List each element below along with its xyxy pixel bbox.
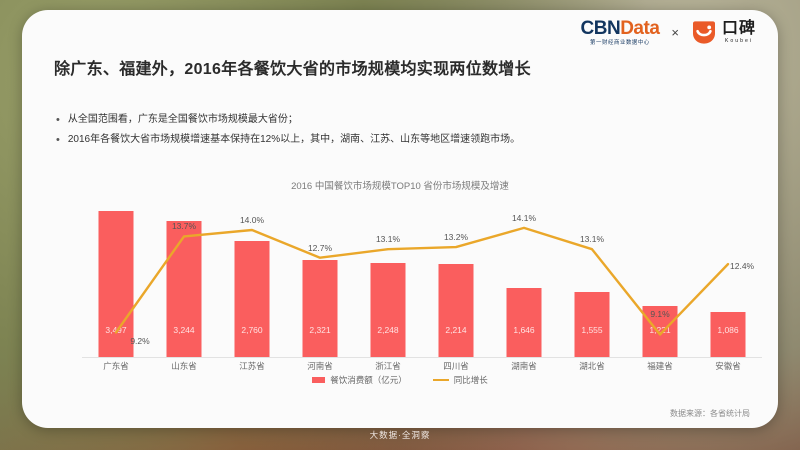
x-axis-label: 江苏省 bbox=[218, 360, 286, 372]
x-axis-label: 安徽省 bbox=[694, 360, 762, 372]
partnership-x-icon: × bbox=[669, 25, 681, 40]
growth-line-path bbox=[116, 228, 728, 335]
list-item: • 从全国范围看，广东是全国餐饮市场规模最大省份； bbox=[56, 114, 736, 127]
x-axis-label: 山东省 bbox=[150, 360, 218, 372]
chart-title: 2016 中国餐饮市场规模TOP10 省份市场规模及增速 bbox=[22, 178, 778, 192]
koubei-smile-icon bbox=[691, 21, 717, 44]
x-axis-label: 河南省 bbox=[286, 360, 354, 372]
growth-value-label: 13.2% bbox=[444, 232, 468, 242]
page-title: 除广东、福建外，2016年各餐饮大省的市场规模均实现两位数增长 bbox=[54, 55, 531, 79]
koubei-name-en: Koubei bbox=[725, 39, 753, 44]
bullet-text: 2016年各餐饮大省市场规模增速基本保持在12%以上，其中，湖南、江苏、山东等地… bbox=[68, 134, 520, 146]
growth-line-series: 9.2%13.7%14.0%12.7%13.1%13.2%14.1%13.1%9… bbox=[82, 198, 762, 358]
growth-value-label: 13.1% bbox=[580, 234, 604, 244]
growth-value-label: 12.7% bbox=[308, 243, 332, 253]
koubei-logo: 口碑 Koubei bbox=[691, 21, 756, 45]
growth-value-label: 13.1% bbox=[376, 234, 400, 244]
x-axis-label: 湖南省 bbox=[490, 360, 558, 372]
bullet-marker-icon: • bbox=[56, 134, 60, 147]
growth-value-label: 14.1% bbox=[512, 213, 536, 223]
legend-item-bar: 餐饮消费额（亿元） bbox=[312, 374, 407, 386]
slide-card: CBNData 第一财经商业数据中心 × 口碑 Koubei 除广东、福建外，2… bbox=[22, 10, 778, 428]
bullet-text: 从全国范围看，广东是全国餐饮市场规模最大省份； bbox=[68, 114, 298, 126]
cbndata-logo: CBNData 第一财经商业数据中心 bbox=[581, 19, 660, 46]
data-source-note: 数据来源：各省统计局 bbox=[670, 408, 750, 419]
x-axis-line bbox=[82, 357, 762, 358]
x-axis-label: 广东省 bbox=[82, 360, 150, 372]
koubei-wordmark: 口碑 Koubei bbox=[722, 21, 756, 45]
list-item: • 2016年各餐饮大省市场规模增速基本保持在12%以上，其中，湖南、江苏、山东… bbox=[56, 134, 736, 147]
cbndata-wordmark: CBNData bbox=[581, 19, 660, 38]
legend-label-line: 同比增长 bbox=[454, 374, 488, 386]
x-axis-label: 浙江省 bbox=[354, 360, 422, 372]
growth-value-label: 12.4% bbox=[730, 261, 754, 271]
bullet-list: • 从全国范围看，广东是全国餐饮市场规模最大省份； • 2016年各餐饮大省市场… bbox=[56, 114, 736, 153]
footer-slogan: 大数据·全洞察 bbox=[0, 429, 800, 441]
legend-item-line: 同比增长 bbox=[433, 374, 488, 386]
growth-value-label: 9.2% bbox=[130, 336, 149, 346]
x-axis-label: 福建省 bbox=[626, 360, 694, 372]
legend-swatch-bar-icon bbox=[312, 377, 325, 383]
bullet-marker-icon: • bbox=[56, 114, 60, 127]
legend-label-bar: 餐饮消费额（亿元） bbox=[330, 374, 407, 386]
growth-value-label: 9.1% bbox=[650, 309, 669, 319]
legend-swatch-line-icon bbox=[433, 379, 449, 381]
growth-value-label: 14.0% bbox=[240, 215, 264, 225]
cbndata-subtitle: 第一财经商业数据中心 bbox=[590, 41, 650, 46]
x-axis-label: 四川省 bbox=[422, 360, 490, 372]
cbndata-wordmark-data: Data bbox=[620, 18, 659, 39]
brand-lockup: CBNData 第一财经商业数据中心 × 口碑 Koubei bbox=[581, 19, 756, 46]
cbndata-wordmark-cbn: CBN bbox=[581, 18, 621, 39]
koubei-name-cn: 口碑 bbox=[722, 21, 756, 37]
chart-legend: 餐饮消费额（亿元） 同比增长 bbox=[22, 374, 778, 386]
x-axis-label: 湖北省 bbox=[558, 360, 626, 372]
growth-value-label: 13.7% bbox=[172, 221, 196, 231]
